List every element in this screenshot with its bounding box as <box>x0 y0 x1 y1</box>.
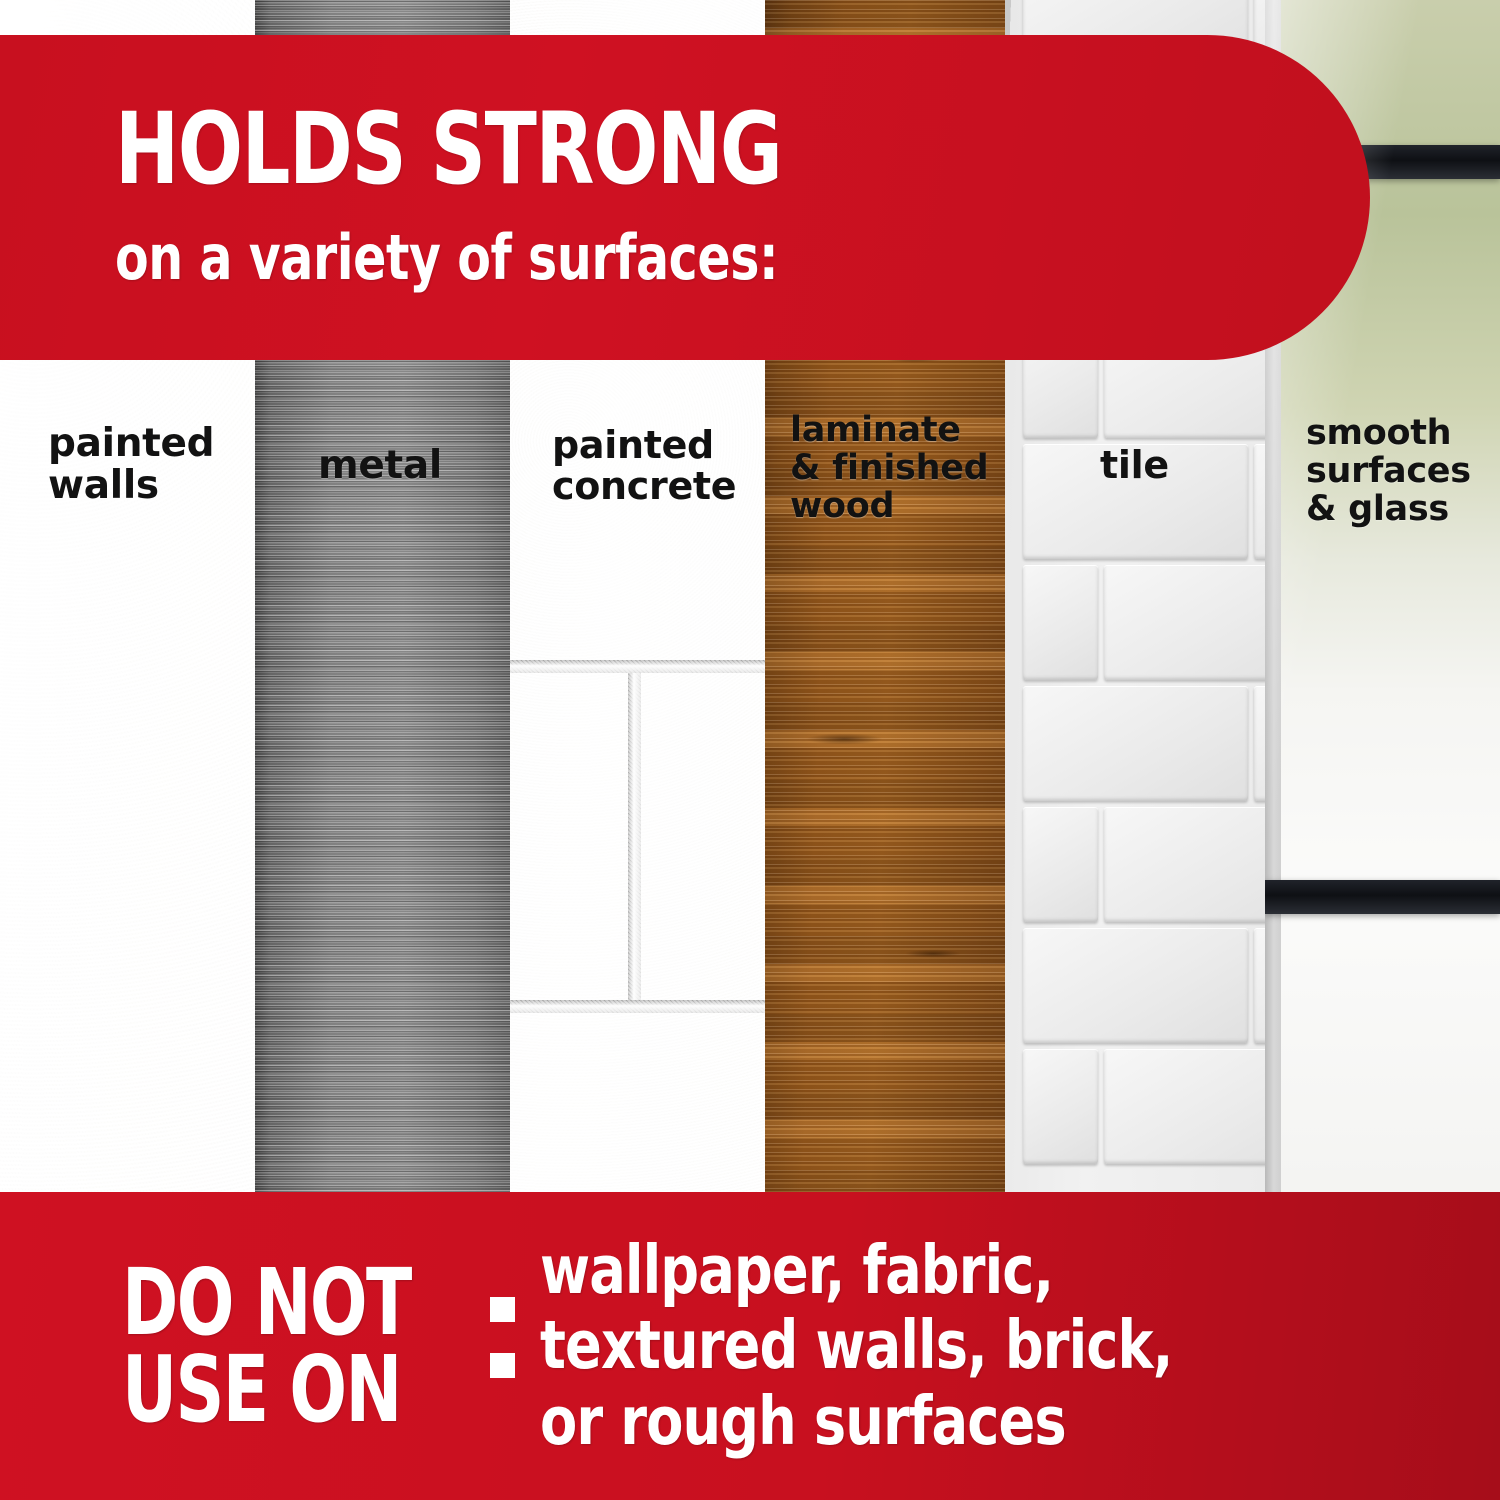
surface-label-metal: metal <box>318 445 442 487</box>
label-line: tile <box>1100 445 1169 486</box>
tile-unit <box>1104 807 1265 922</box>
surface-label-painted-concrete: painted concrete <box>552 425 736 507</box>
mortar-line-horizontal <box>510 1000 765 1013</box>
tile-unit <box>1104 1049 1265 1164</box>
warning-item: textured walls, brick, <box>540 1308 1172 1383</box>
tile-unit <box>1023 686 1248 801</box>
tile-unit <box>1023 807 1098 922</box>
label-line: wood <box>790 488 988 526</box>
warning-heading: DO NOT USE ON <box>122 1259 474 1434</box>
label-line: painted <box>48 423 214 465</box>
label-line: & glass <box>1306 491 1471 529</box>
colon-glyph <box>484 1291 530 1401</box>
label-line: concrete <box>552 466 736 507</box>
banner-subtitle: on a variety of surfaces: <box>115 221 1219 294</box>
warning-item: or rough surfaces <box>540 1384 1172 1459</box>
label-line: surfaces <box>1306 453 1471 491</box>
warning-line-2: USE ON <box>122 1346 411 1433</box>
tile-unit <box>1104 565 1265 680</box>
label-line: metal <box>318 445 442 487</box>
tile-unit <box>1023 565 1098 680</box>
label-line: smooth <box>1306 415 1471 453</box>
label-line: walls <box>48 465 214 507</box>
warning-item-list: wallpaper, fabric, textured walls, brick… <box>540 1233 1243 1458</box>
label-line: & finished <box>790 450 988 488</box>
mortar-line-vertical <box>628 673 641 1000</box>
banner-title: HOLDS STRONG <box>115 101 1194 198</box>
colon-dot-top <box>490 1297 515 1322</box>
surface-label-smooth-glass: smooth surfaces & glass <box>1306 415 1471 528</box>
surface-label-laminate-wood: laminate & finished wood <box>790 412 988 525</box>
tile-unit <box>1023 928 1248 1043</box>
surface-label-painted-walls: painted walls <box>48 423 214 507</box>
label-line: painted <box>552 425 736 466</box>
infographic-root: painted walls metal painted concrete lam… <box>0 0 1500 1500</box>
label-line: laminate <box>790 412 988 450</box>
do-not-use-banner: DO NOT USE ON wallpaper, fabric, texture… <box>0 1192 1500 1500</box>
tile-unit <box>1254 686 1265 801</box>
tile-unit <box>1254 928 1265 1043</box>
colon-dot-bottom <box>490 1353 515 1378</box>
mortar-line-horizontal <box>510 660 765 673</box>
tile-unit <box>1254 444 1265 559</box>
holds-strong-banner: HOLDS STRONG on a variety of surfaces: <box>0 35 1370 360</box>
tile-unit <box>1023 1049 1098 1164</box>
warning-block: DO NOT USE ON wallpaper, fabric, texture… <box>0 1233 1243 1458</box>
warning-line-1: DO NOT <box>122 1259 411 1346</box>
warning-item: wallpaper, fabric, <box>540 1233 1172 1308</box>
surface-label-tile: tile <box>1100 445 1169 486</box>
